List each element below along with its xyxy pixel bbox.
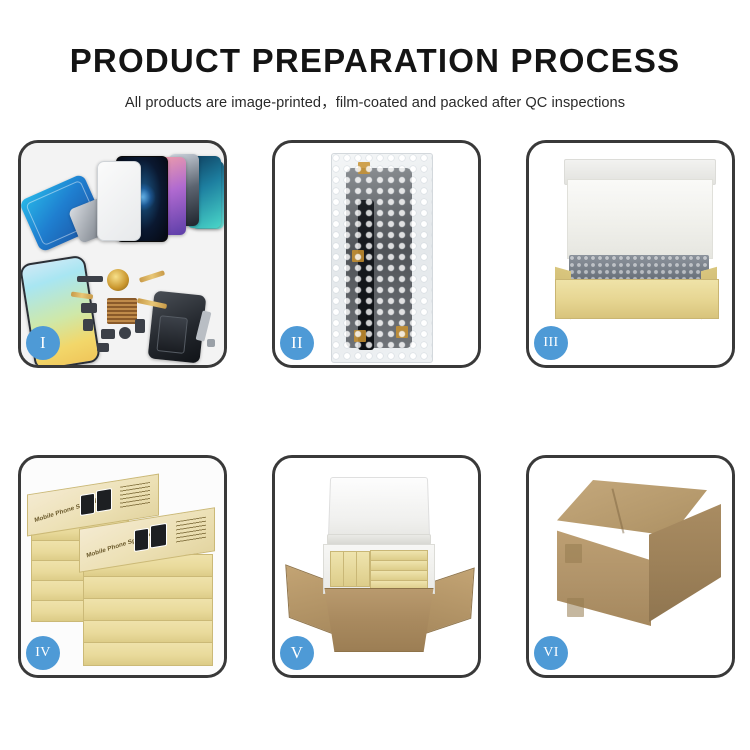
box-label-lines-2 <box>176 517 206 545</box>
flex-cable-icon-1 <box>139 270 165 283</box>
screw-icon <box>207 339 215 347</box>
stacked-box-icon-r5 <box>83 642 213 666</box>
inner-yellow-box-icon-2 <box>343 551 357 587</box>
stacked-box-icon-r2 <box>83 576 213 600</box>
speaker-part-icon <box>101 329 115 339</box>
step-card-3[interactable]: III <box>526 140 735 368</box>
carton-tape-icon-2 <box>567 598 584 617</box>
box-label-phone-icon-2a <box>134 528 149 552</box>
header: PRODUCT PREPARATION PROCESS All products… <box>0 0 750 112</box>
page-subtitle: All products are image-printed，film-coat… <box>0 80 750 112</box>
page-title: PRODUCT PREPARATION PROCESS <box>0 0 750 80</box>
tape-icon-1 <box>358 162 370 174</box>
vibrator-part-icon <box>119 327 131 339</box>
carton-body-icon <box>317 588 441 652</box>
carton-tape-icon-1 <box>565 544 582 563</box>
chip-grid-icon <box>107 298 137 324</box>
bubble-wrap-bag-icon <box>331 153 433 363</box>
step-card-5[interactable]: V <box>272 455 481 678</box>
stacked-box-icon-r3 <box>83 598 213 622</box>
step-card-1[interactable]: I <box>18 140 227 368</box>
step-badge-6: VI <box>534 636 568 670</box>
foam-box-icon <box>323 544 435 594</box>
inner-yellow-box-icon-3 <box>356 551 370 587</box>
tape-icon-4 <box>396 326 408 338</box>
step-badge-2: II <box>280 326 314 360</box>
camera-part-icon <box>81 303 97 313</box>
process-steps-grid: I II <box>18 140 735 678</box>
step-badge-5: V <box>280 636 314 670</box>
wrapped-part-strip-icon <box>358 200 374 350</box>
box-lid-face-icon <box>567 179 713 259</box>
box-foam-contents-icon <box>569 255 709 281</box>
tape-icon-2 <box>352 250 364 262</box>
step-badge-3: III <box>534 326 568 360</box>
coil-component-icon <box>107 269 129 291</box>
sim-tray-icon <box>135 319 145 333</box>
box-label-phone-icon-1a <box>80 493 95 516</box>
connector-part-icon <box>77 276 103 282</box>
box-label-phone-icon-2b <box>150 523 167 549</box>
tape-icon-3 <box>354 330 366 342</box>
small-part-icon <box>97 343 109 352</box>
stacked-box-icon-r4 <box>83 620 213 644</box>
step-badge-4: IV <box>26 636 60 670</box>
inner-yellow-box-icon-1 <box>330 551 344 587</box>
step-badge-1: I <box>26 326 60 360</box>
step-card-6[interactable]: VI <box>526 455 735 678</box>
foam-lid-icon <box>328 477 430 540</box>
box-label-phone-icon-1b <box>96 488 112 513</box>
step-card-2[interactable]: II <box>272 140 481 368</box>
step-card-4[interactable]: Mobile Phone Spare Parts Mobile Phone Sp… <box>18 455 227 678</box>
product-preparation-process-page: PRODUCT PREPARATION PROCESS All products… <box>0 0 750 750</box>
box-front-panel-icon <box>555 279 719 319</box>
box-label-lines-1 <box>120 482 150 509</box>
button-part-icon <box>83 319 93 331</box>
screen-protector-icon <box>97 161 141 241</box>
